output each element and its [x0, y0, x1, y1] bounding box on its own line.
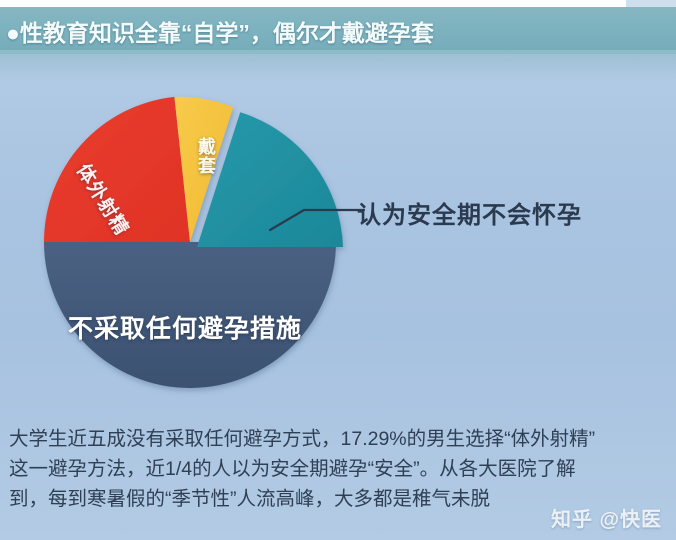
callout-leader-line — [268, 186, 368, 236]
top-white-strip — [0, 0, 626, 7]
chart-area: 体外射精 戴套 不采取任何避孕措施 认为安全期不会怀孕 — [0, 78, 676, 418]
watermark: 知乎 @快医 — [551, 503, 662, 532]
pie-chart-svg — [44, 96, 336, 388]
header-banner: ●性教育知识全靠“自学”，偶尔才戴避孕套 — [0, 7, 676, 54]
header-shadow-fade — [0, 54, 676, 80]
caption-line-1: 大学生近五成没有采取任何避孕方式，17.29%的男生选择“体外射精” — [9, 424, 667, 454]
callout-label: 认为安全期不会怀孕 — [357, 195, 582, 230]
caption-block: 大学生近五成没有采取任何避孕方式，17.29%的男生选择“体外射精” 这一避孕方… — [0, 424, 676, 514]
pie-chart: 体外射精 戴套 不采取任何避孕措施 — [44, 96, 336, 388]
pie-slice-no-contraception[interactable] — [44, 242, 336, 388]
header-bullet-icon: ● — [6, 20, 20, 46]
caption-line-2: 这一避孕方法，近1/4的人以为安全期避孕“安全”。从各大医院了解 — [9, 454, 667, 484]
infographic-poster: ●性教育知识全靠“自学”，偶尔才戴避孕套 — [0, 0, 676, 540]
page-title: ●性教育知识全靠“自学”，偶尔才戴避孕套 — [6, 14, 434, 48]
header-title-text: 性教育知识全靠“自学”，偶尔才戴避孕套 — [20, 20, 434, 46]
pie-slice-withdrawal[interactable] — [44, 97, 190, 242]
top-strip-right-edge — [626, 0, 676, 7]
